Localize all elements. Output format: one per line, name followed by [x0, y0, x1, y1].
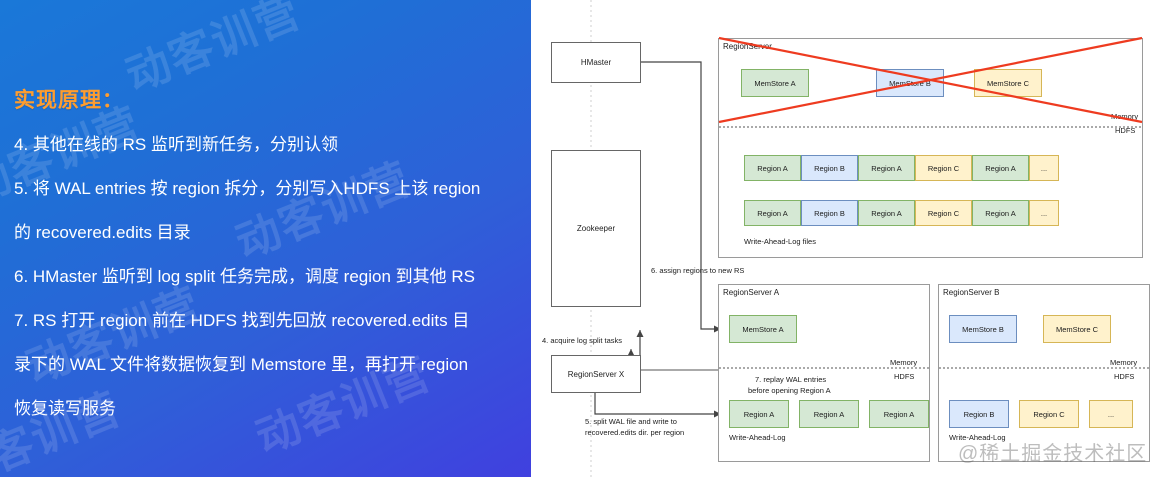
slide-body-line: 5. 将 WAL entries 按 region 拆分，分别写入HDFS 上该…: [14, 180, 517, 197]
slide-body-line: 恢复读写服务: [14, 400, 517, 417]
slide-body-line: 6. HMaster 监听到 log split 任务完成，调度 region …: [14, 268, 517, 285]
architecture-diagram: HMaster Zookeeper RegionServer X 4. acqu…: [533, 0, 1166, 477]
site-watermark: @稀土掘金技术社区: [958, 437, 1147, 466]
slide-body-line: 的 recovered.edits 目录: [14, 224, 517, 241]
slide-body-line: 7. RS 打开 region 前在 HDFS 找到先回放 recovered.…: [14, 312, 517, 329]
screenshot-root: 动客训营 动客训营 动客训营 动客训营 动客训营 动客训营 实现原理： 4. 其…: [0, 0, 1166, 477]
slide-heading: 实现原理：: [14, 84, 517, 114]
regionserver-b-overlay: [533, 0, 1166, 477]
slide-body-line: 录下的 WAL 文件将数据恢复到 Memstore 里，再打开 region: [14, 356, 517, 373]
slide-body-line: 4. 其他在线的 RS 监听到新任务，分别认领: [14, 136, 517, 153]
slide-panel: 动客训营 动客训营 动客训营 动客训营 动客训营 动客训营 实现原理： 4. 其…: [0, 0, 531, 477]
slide-content: 实现原理： 4. 其他在线的 RS 监听到新任务，分别认领 5. 将 WAL e…: [0, 0, 531, 417]
